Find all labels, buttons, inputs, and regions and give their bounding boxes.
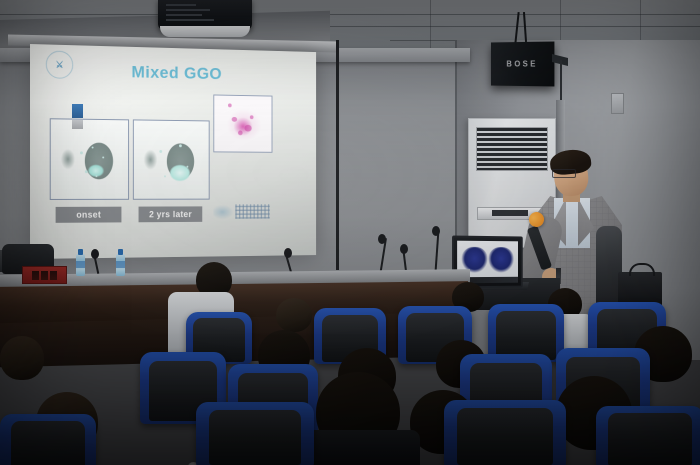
mic-capsule-icon: [91, 249, 99, 259]
caption-onset: onset: [56, 207, 122, 223]
mic-capsule-icon: [400, 244, 408, 254]
screen-edge: [336, 40, 339, 270]
auditorium-seat[interactable]: [444, 400, 566, 465]
projection-screen: ⚔ Mixed GGO: [30, 44, 316, 259]
bose-wall-speaker: BOSE: [491, 42, 554, 87]
ct-lung-image: [134, 120, 209, 198]
ct-lung-image: [51, 119, 128, 199]
wall-switch-plate[interactable]: [611, 93, 624, 114]
ac-badge-icon: [72, 104, 83, 118]
attendee-head: [276, 298, 312, 332]
mic-capsule-icon: [284, 248, 292, 258]
water-bottle: [76, 254, 85, 276]
slide-watermark: [213, 203, 269, 221]
attendee-body: [300, 430, 420, 465]
bose-logo-label: BOSE: [506, 59, 537, 68]
attendee-head: [0, 336, 44, 380]
mic-capsule-icon: [432, 226, 440, 236]
slide-title: Mixed GGO: [30, 60, 316, 86]
black-shoulder-bag: [618, 272, 662, 306]
auditorium-seat[interactable]: [196, 402, 314, 465]
auditorium-seat[interactable]: [596, 406, 700, 465]
water-bottle: [116, 254, 125, 276]
lecture-hall-photo: ⚔ Mixed GGO: [0, 0, 700, 465]
ct-panel-2yrs: [133, 119, 210, 199]
histology-inset: [213, 94, 272, 152]
ac-label-icon: [72, 120, 83, 129]
eyeglasses-icon: [552, 169, 576, 178]
mic-capsule-icon: [378, 234, 386, 244]
laptop-ct-right: [488, 247, 514, 273]
ceiling-projector: [158, 0, 252, 30]
ct-panel-onset: [50, 118, 129, 200]
auditorium-seat[interactable]: [0, 414, 96, 465]
projected-slide: ⚔ Mixed GGO: [30, 44, 316, 259]
caption-2yrs-later: 2 yrs later: [139, 206, 203, 222]
red-nameplate: [22, 266, 67, 284]
